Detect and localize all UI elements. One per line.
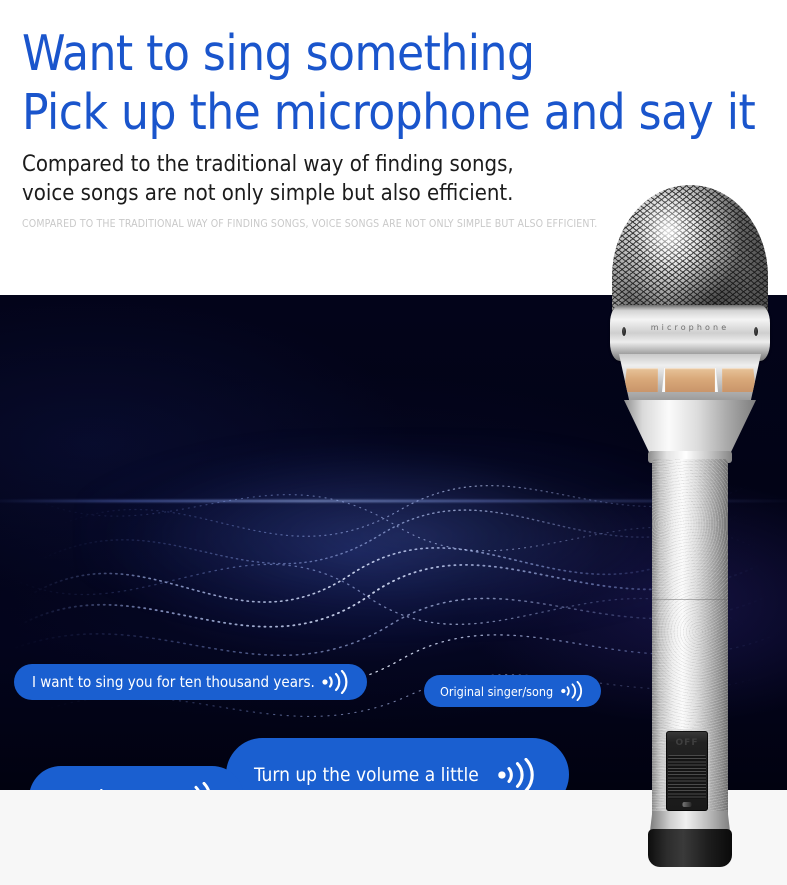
voice-wave-icon	[321, 670, 351, 694]
microphone-taper	[624, 400, 756, 455]
subtitle-line-1: Compared to the traditional way of findi…	[22, 152, 514, 177]
bubble-label: Turn up the volume a little	[254, 764, 479, 786]
subtitle-line-2: voice songs are not only simple but also…	[22, 179, 514, 208]
microphone-base-cap	[648, 829, 732, 867]
vent-center	[662, 368, 718, 392]
microphone-band-label: microphone	[610, 323, 770, 332]
page-title: Want to sing something Pick up the micro…	[22, 24, 755, 142]
voice-wave-icon	[496, 758, 539, 791]
poster-canvas: Want to sing something Pick up the micro…	[0, 0, 787, 885]
microphone-power-switch[interactable]: OFF	[666, 731, 708, 811]
bubble-label: I want to sing you for ten thousand year…	[32, 673, 315, 691]
voice-wave-icon	[560, 681, 585, 701]
voice-command-bubble-original-singer-song[interactable]: Original singer/song	[424, 675, 601, 707]
voice-command-bubble-next-song[interactable]: next song	[29, 766, 244, 790]
voice-command-bubble-ten-thousand-years[interactable]: I want to sing you for ten thousand year…	[14, 664, 367, 700]
switch-off-label: OFF	[666, 738, 708, 748]
microphone-vent-row	[619, 354, 761, 406]
voice-command-bubble-turn-up-volume[interactable]: Turn up the volume a little	[226, 738, 569, 790]
caption-text: COMPARED TO THE TRADITIONAL WAY OF FINDI…	[22, 218, 597, 230]
vent-right	[722, 368, 756, 392]
handle-seam	[652, 599, 728, 600]
subtitle: Compared to the traditional way of findi…	[22, 150, 514, 208]
bubble-label: Original singer/song	[440, 684, 553, 699]
headline-line-2: Pick up the microphone and say it	[22, 83, 755, 142]
microphone-image: microphone OFF	[600, 185, 780, 855]
switch-indicator-icon	[683, 802, 692, 807]
microphone-foot-ring	[650, 811, 730, 831]
headline-line-1: Want to sing something	[22, 25, 535, 82]
microphone-brand-band: microphone	[610, 305, 770, 361]
vent-left	[624, 368, 658, 392]
switch-ribs	[668, 755, 706, 799]
voice-wave-icon	[176, 782, 216, 790]
